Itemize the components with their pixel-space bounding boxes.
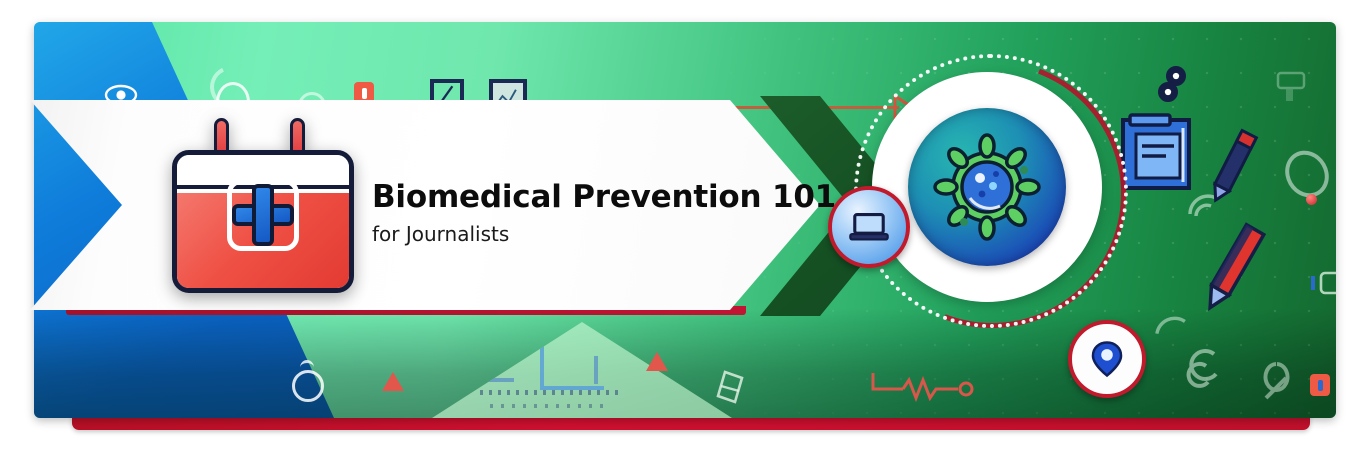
navy-circle-icon xyxy=(1158,82,1178,102)
red-triangle-icon xyxy=(382,372,404,391)
chart-ticks-glyph xyxy=(480,390,620,395)
page-subtitle: for Journalists xyxy=(372,222,836,246)
navy-pencil-icon xyxy=(1202,126,1262,210)
title-block: Biomedical Prevention 101 for Journalist… xyxy=(372,180,836,246)
virus-disc xyxy=(908,108,1066,266)
swirl-icon xyxy=(1184,344,1234,396)
wifi-icon xyxy=(1152,309,1196,344)
red-triangle-icon xyxy=(646,352,668,371)
chart-bar-glyph xyxy=(594,356,598,384)
page-title: Biomedical Prevention 101 xyxy=(372,180,836,215)
battery-chip-icon xyxy=(1310,374,1330,396)
virus-medallion xyxy=(862,62,1112,312)
location-pin-badge-icon[interactable] xyxy=(1068,320,1146,398)
resistor-circuit-icon xyxy=(869,367,984,405)
crossed-circle-icon xyxy=(1256,358,1296,406)
virus-icon xyxy=(930,130,1044,244)
tag-glyph-icon xyxy=(1276,70,1310,104)
laptop-badge-icon[interactable] xyxy=(828,186,910,268)
banner-stage: Biomedical Prevention 101 for Journalist… xyxy=(0,0,1370,460)
medical-calendar-icon xyxy=(168,118,358,293)
clipboard-document-icon xyxy=(1120,112,1196,192)
medical-cross-icon xyxy=(232,184,294,246)
chart-ticks-glyph xyxy=(490,404,608,408)
red-dot xyxy=(1306,194,1317,205)
arc-icon xyxy=(300,360,314,375)
parallelogram-icon xyxy=(716,370,744,404)
brackets-icon xyxy=(1307,270,1336,296)
red-pencil-icon xyxy=(1194,218,1272,322)
